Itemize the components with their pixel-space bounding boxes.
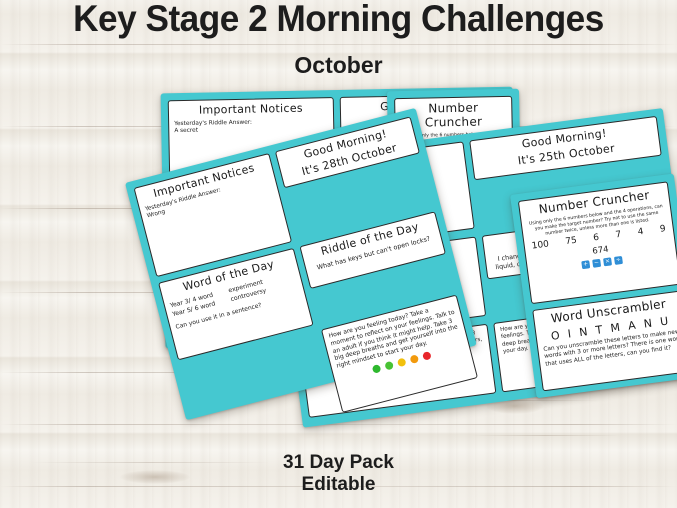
wood-background: Key Stage 2 Morning Challenges October I… <box>0 0 677 508</box>
feeling-dot-green2[interactable] <box>384 361 394 371</box>
page-subtitle: October <box>0 52 677 79</box>
cruncher-number: 4 <box>637 227 644 238</box>
cruncher-number: 75 <box>565 236 578 247</box>
cruncher-number: 6 <box>593 233 600 244</box>
footer: 31 Day Pack Editable <box>0 452 677 496</box>
multiply-icon[interactable]: × <box>603 258 612 267</box>
challenge-card-25th-october-right-column[interactable]: Number Cruncher Using only the 6 numbers… <box>510 173 677 398</box>
wood-plank-seam <box>0 44 677 45</box>
feeling-dot-red[interactable] <box>422 351 432 361</box>
divide-icon[interactable]: ÷ <box>614 256 623 265</box>
cruncher-number: 100 <box>531 240 549 252</box>
number-cruncher-panel: Number Cruncher Using only the 6 numbers… <box>518 181 677 304</box>
cruncher-number: 7 <box>615 230 622 241</box>
wood-plank-seam <box>0 424 677 425</box>
page-title: Key Stage 2 Morning Challenges <box>17 0 660 40</box>
feeling-dot-orange[interactable] <box>409 354 419 364</box>
footer-line-1: 31 Day Pack <box>0 452 677 474</box>
wood-grain <box>470 435 620 436</box>
riddle-answer-value: A secret <box>174 126 328 137</box>
footer-line-2: Editable <box>0 474 677 496</box>
word-unscrambler-panel: Word Unscrambler O I N T M A N U Can you… <box>532 290 677 391</box>
cruncher-number: 9 <box>659 224 666 235</box>
minus-icon[interactable]: − <box>592 259 601 268</box>
feeling-dot-yellow[interactable] <box>397 358 407 368</box>
feeling-dot-green[interactable] <box>372 364 382 374</box>
important-notices-title: Important Notices <box>174 102 328 118</box>
plus-icon[interactable]: + <box>581 261 590 270</box>
riddle-panel: Riddle of the Day What has keys but can'… <box>299 211 446 289</box>
